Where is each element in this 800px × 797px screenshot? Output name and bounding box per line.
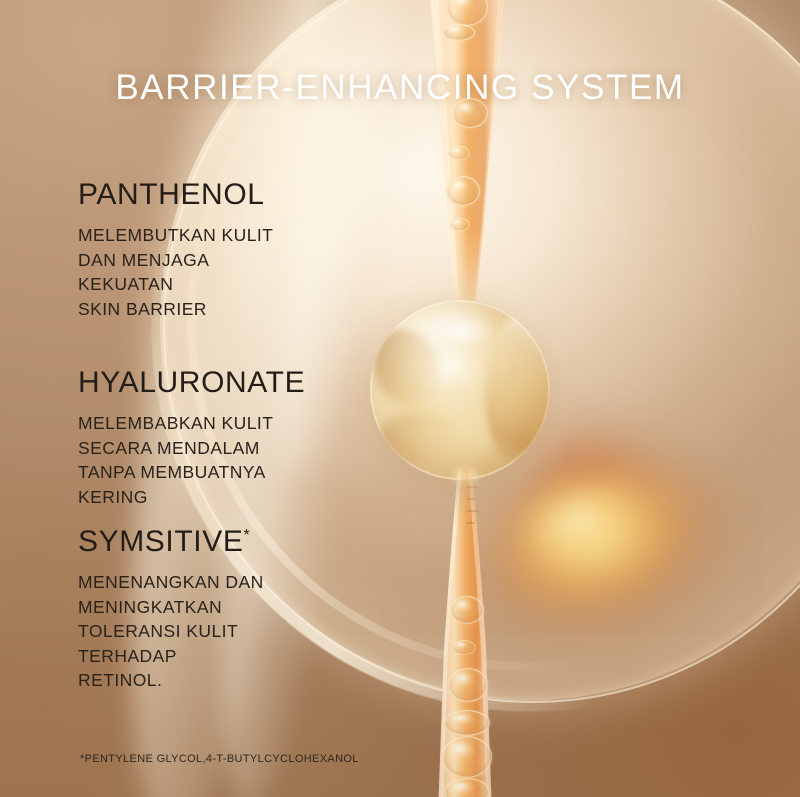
description-line: TOLERANSI KULIT [78, 619, 408, 644]
description-line: RETINOL. [78, 668, 408, 693]
ingredient-heading-text: PANTHENOL [78, 178, 265, 211]
ingredient-block-symsitive: SYMSITIVE* MENENANGKAN DAN MENINGKATKAN … [78, 527, 408, 693]
ingredient-description: MELEMBUTKAN KULIT DAN MENJAGA KEKUATAN S… [78, 223, 408, 321]
description-line: MELEMBUTKAN KULIT [78, 223, 408, 248]
page-title: BARRIER-ENHANCING SYSTEM [0, 68, 800, 108]
ingredient-heading: HYALURONATE [78, 368, 408, 398]
ingredient-description: MELEMBABKAN KULIT SECARA MENDALAM TANPA … [78, 411, 408, 509]
description-line: TERHADAP [78, 644, 408, 669]
ingredient-block-panthenol: PANTHENOL MELEMBUTKAN KULIT DAN MENJAGA … [78, 180, 408, 321]
ingredient-heading-text: SYMSITIVE [78, 525, 243, 558]
description-line: SKIN BARRIER [78, 297, 408, 322]
ingredient-description: MENENANGKAN DAN MENINGKATKAN TOLERANSI K… [78, 570, 408, 693]
ingredient-heading: PANTHENOL [78, 180, 408, 210]
ingredient-heading-text: HYALURONATE [78, 366, 305, 399]
droplet-bottom-sparkle [449, 466, 483, 486]
infographic-canvas: BARRIER-ENHANCING SYSTEM PANTHENOL MELEM… [0, 0, 800, 797]
droplet-specular-highlight [420, 311, 499, 351]
description-line: KEKUATAN [78, 272, 408, 297]
description-line: MENINGKATKAN [78, 595, 408, 620]
ingredient-heading: SYMSITIVE* [78, 527, 408, 557]
description-line: MELEMBABKAN KULIT [78, 411, 408, 436]
asterisk-marker: * [243, 527, 249, 544]
description-line: KERING [78, 485, 408, 510]
description-line: SECARA MENDALAM [78, 436, 408, 461]
description-line: MENENANGKAN DAN [78, 570, 408, 595]
footnote: *PENTYLENE GLYCOL,4-T-BUTYLCYCLOHEXANOL [80, 753, 359, 765]
description-line: TANPA MEMBUATNYA [78, 460, 408, 485]
description-line: DAN MENJAGA [78, 248, 408, 273]
ingredient-block-hyaluronate: HYALURONATE MELEMBABKAN KULIT SECARA MEN… [78, 368, 408, 509]
